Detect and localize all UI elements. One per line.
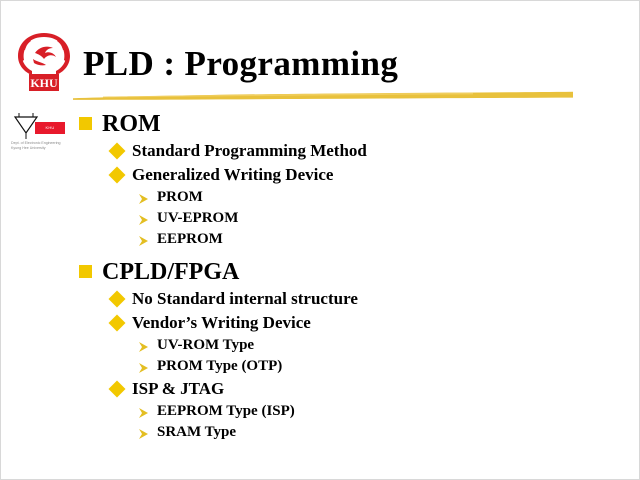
outline-item-generalized-writing-device: Generalized Writing Device bbox=[1, 163, 640, 187]
outline-item-eeprom-type-isp: EEPROM Type (ISP) bbox=[1, 401, 640, 422]
outline-item-vendors-writing-device: Vendor’s Writing Device bbox=[1, 311, 640, 335]
outline-text: UV-ROM Type bbox=[157, 335, 254, 356]
outline-item-no-standard-internal-structure: No Standard internal structure bbox=[1, 287, 640, 311]
outline-text: PROM bbox=[157, 187, 203, 208]
square-bullet-icon bbox=[79, 117, 92, 130]
outline-text: No Standard internal structure bbox=[132, 287, 358, 311]
diamond-bullet-icon bbox=[109, 143, 126, 160]
title-underline-brush bbox=[73, 91, 573, 100]
arrow-bullet-icon bbox=[138, 361, 150, 373]
slide-outline: ROM Standard Programming Method Generali… bbox=[1, 109, 640, 443]
outline-text: CPLD/FPGA bbox=[102, 257, 239, 287]
outline-item-isp-jtag: ISP & JTAG bbox=[1, 377, 640, 401]
square-bullet-icon bbox=[79, 265, 92, 278]
outline-text: Standard Programming Method bbox=[132, 139, 367, 163]
outline-text: Vendor’s Writing Device bbox=[132, 311, 311, 335]
diamond-bullet-icon bbox=[109, 381, 126, 398]
outline-spacer bbox=[1, 250, 640, 257]
outline-text: Generalized Writing Device bbox=[132, 163, 333, 187]
khu-crest-label: KHU bbox=[30, 76, 58, 90]
outline-item-cpld-fpga: CPLD/FPGA bbox=[1, 257, 640, 287]
arrow-bullet-icon bbox=[138, 192, 150, 204]
diamond-bullet-icon bbox=[109, 291, 126, 308]
outline-text: ROM bbox=[102, 109, 161, 139]
outline-text: EEPROM bbox=[157, 229, 223, 250]
arrow-bullet-icon bbox=[138, 406, 150, 418]
outline-text: SRAM Type bbox=[157, 422, 236, 443]
outline-item-prom: PROM bbox=[1, 187, 640, 208]
outline-item-rom: ROM bbox=[1, 109, 640, 139]
outline-item-standard-programming-method: Standard Programming Method bbox=[1, 139, 640, 163]
slide-title: PLD : Programming bbox=[83, 44, 398, 84]
outline-item-uv-rom-type: UV-ROM Type bbox=[1, 335, 640, 356]
arrow-bullet-icon bbox=[138, 234, 150, 246]
diamond-bullet-icon bbox=[109, 315, 126, 332]
outline-item-eeprom: EEPROM bbox=[1, 229, 640, 250]
diamond-bullet-icon bbox=[109, 167, 126, 184]
outline-item-uv-eprom: UV-EPROM bbox=[1, 208, 640, 229]
arrow-bullet-icon bbox=[138, 340, 150, 352]
outline-text: ISP & JTAG bbox=[132, 377, 224, 401]
outline-text: UV-EPROM bbox=[157, 208, 238, 229]
outline-text: EEPROM Type (ISP) bbox=[157, 401, 295, 422]
arrow-bullet-icon bbox=[138, 427, 150, 439]
khu-crest-icon: KHU bbox=[15, 29, 73, 95]
outline-item-sram-type: SRAM Type bbox=[1, 422, 640, 443]
outline-item-prom-type-otp: PROM Type (OTP) bbox=[1, 356, 640, 377]
presentation-slide: KHU KHU Dept. of Electronic Engineering … bbox=[0, 0, 640, 480]
khu-crest-logo: KHU bbox=[15, 29, 73, 95]
arrow-bullet-icon bbox=[138, 213, 150, 225]
outline-text: PROM Type (OTP) bbox=[157, 356, 282, 377]
